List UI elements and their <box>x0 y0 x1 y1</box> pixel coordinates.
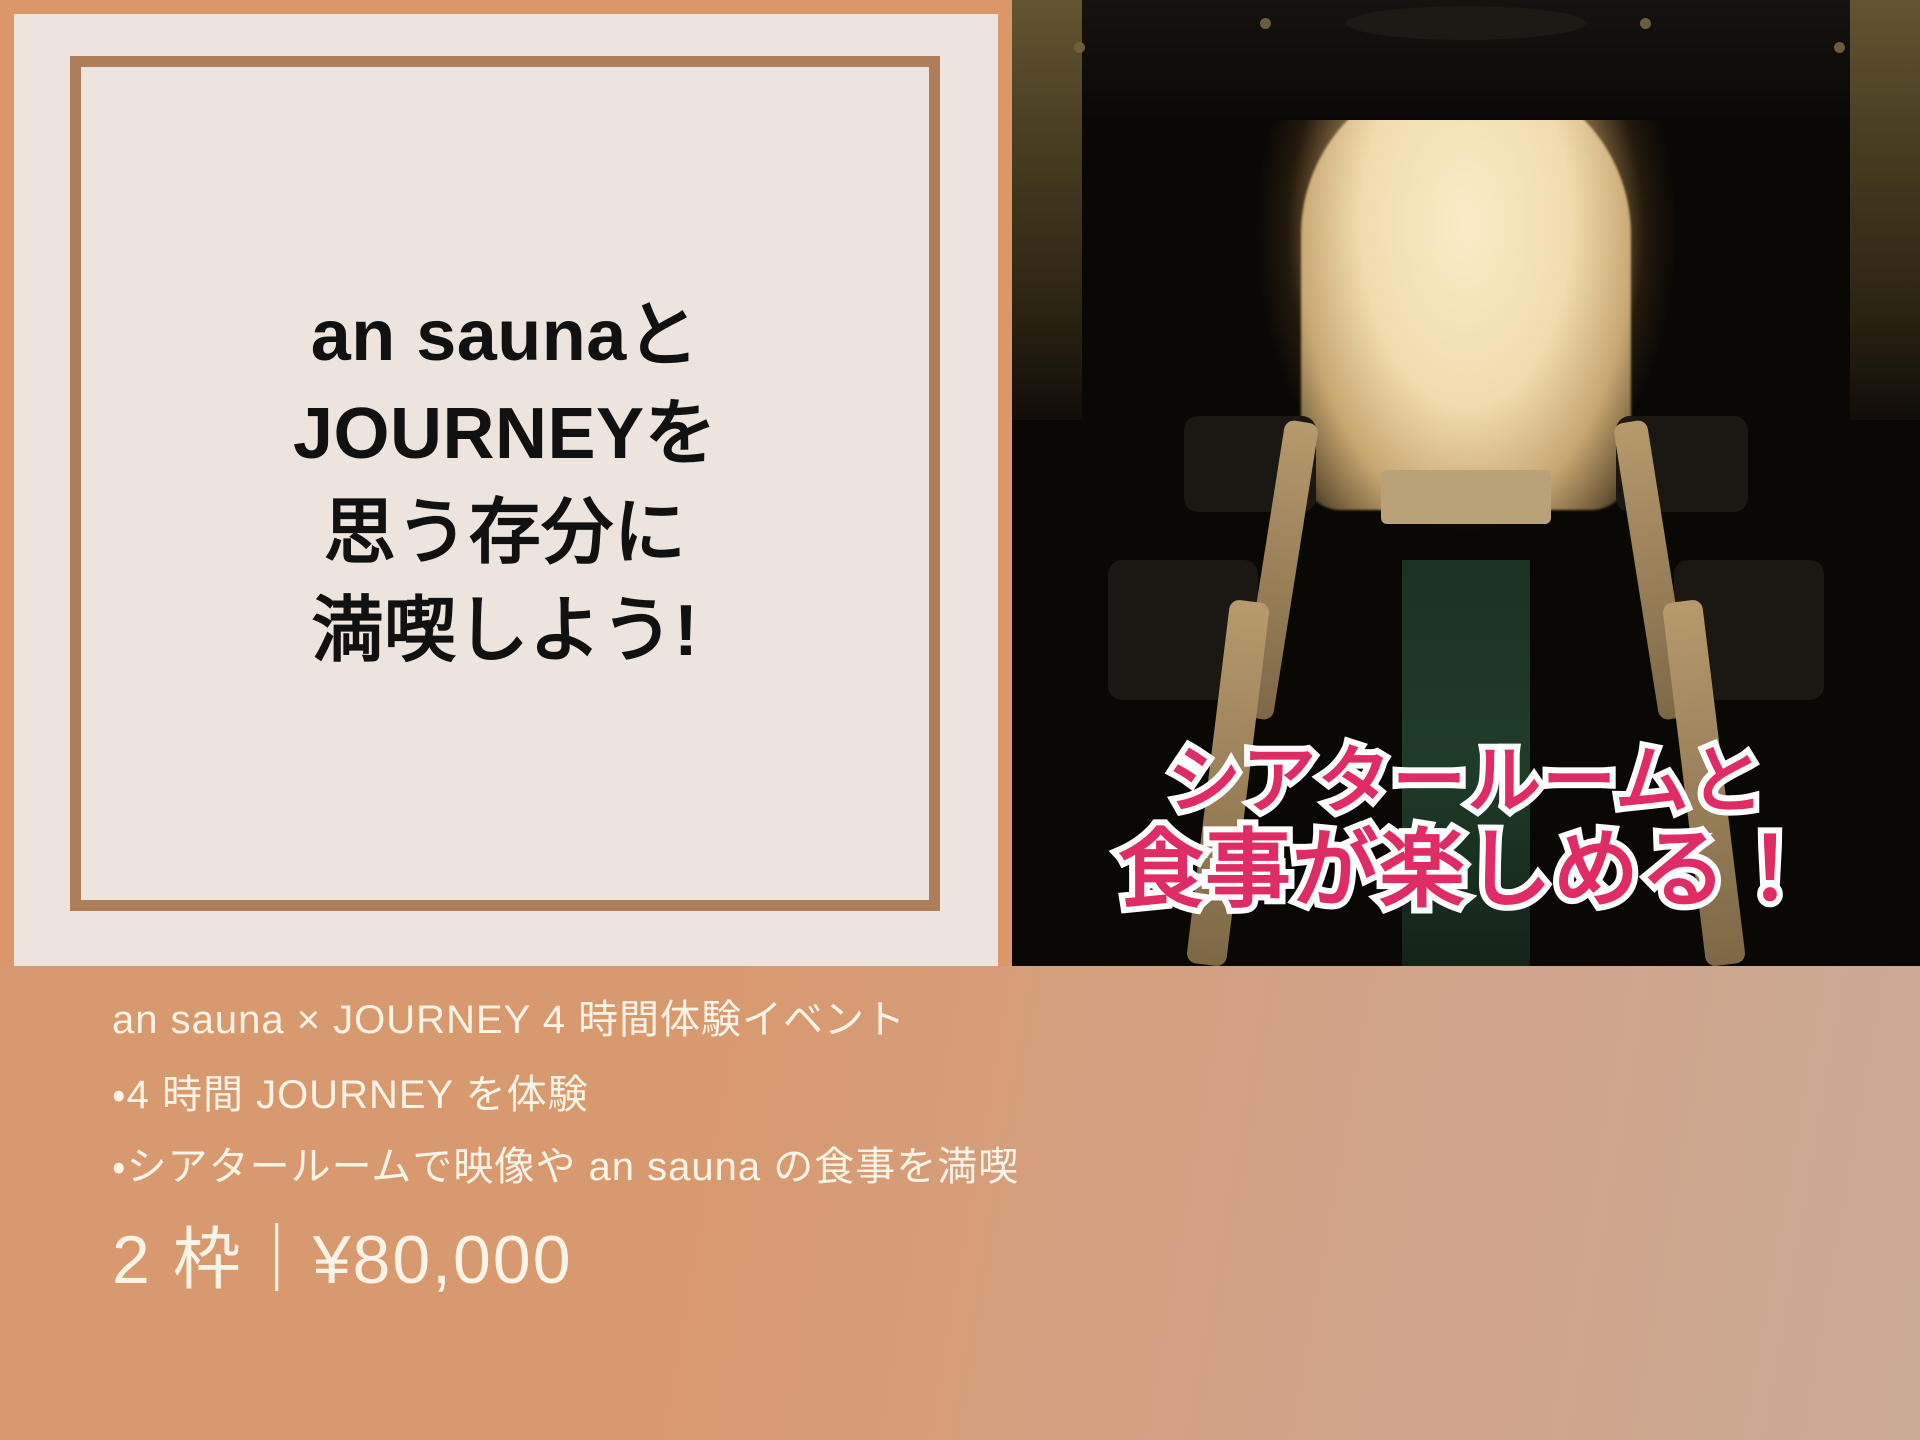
price-line: 2 枠｜¥80,000 <box>112 1220 1412 1302</box>
details-text-block: an sauna × JOURNEY 4 時間体験イベント ・4 時間 JOUR… <box>112 990 1412 1302</box>
photo-overlay-text: シアタールームと 食事が楽しめる！ <box>1012 740 1920 918</box>
headline-line-4: 満喫しよう! <box>304 585 707 677</box>
headline-block: an saunaと JOURNEYを 思う存分に 満喫しよう! <box>70 56 940 911</box>
ceiling-oval-fixture <box>1346 6 1586 40</box>
headline-panel: an saunaと JOURNEYを 思う存分に 満喫しよう! <box>0 0 1012 966</box>
event-bullet-2: ・シアタールームで映像や an sauna の食事を満喫 <box>112 1136 1412 1198</box>
headline-line-3-text: 思う存分に <box>324 493 687 573</box>
ceiling-light-3 <box>1640 18 1651 29</box>
promo-poster: an saunaと JOURNEYを 思う存分に 満喫しよう! <box>0 0 1920 1440</box>
headline-line-2: JOURNEYを <box>285 388 725 480</box>
top-area: an saunaと JOURNEYを 思う存分に 満喫しよう! <box>0 0 1920 966</box>
center-table <box>1381 470 1551 524</box>
right-wall-drape <box>1850 0 1920 420</box>
ceiling-light-2 <box>1260 18 1271 29</box>
headline-line-4-text: 満喫しよう! <box>312 591 699 671</box>
headline-line-3: 思う存分に <box>316 487 695 579</box>
event-heading: an sauna × JOURNEY 4 時間体験イベント <box>112 990 1412 1050</box>
theater-room-photo: シアタールームと 食事が楽しめる！ <box>1012 0 1920 966</box>
details-band: an sauna × JOURNEY 4 時間体験イベント ・4 時間 JOUR… <box>0 966 1920 1440</box>
projection-screen-glow <box>1301 70 1631 510</box>
photo-overlay-line-1: シアタールームと <box>1030 740 1902 821</box>
event-bullet-1: ・4 時間 JOURNEY を体験 <box>112 1064 1412 1126</box>
headline-line-1: an saunaと <box>303 290 708 382</box>
headline-line-2-text: JOURNEYを <box>293 394 717 474</box>
ceiling <box>1012 0 1920 120</box>
ceiling-light-4 <box>1834 42 1845 53</box>
headline-line-1-text: an saunaと <box>311 296 700 376</box>
photo-overlay-line-2: 食事が楽しめる！ <box>1030 823 1902 918</box>
left-wall-drape <box>1012 0 1082 420</box>
